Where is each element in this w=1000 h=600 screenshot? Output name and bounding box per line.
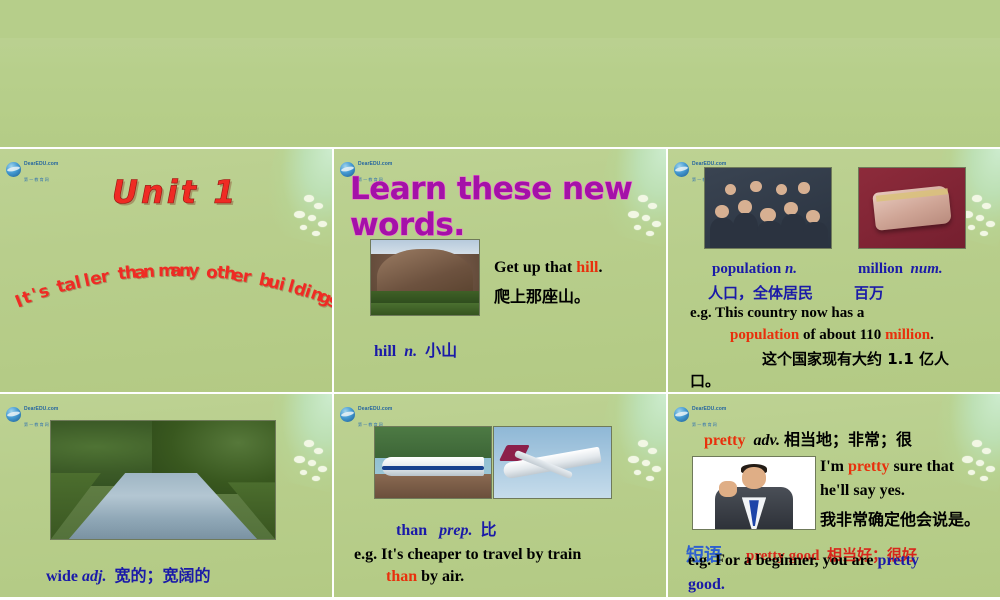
keyword-hill: hill (576, 259, 598, 276)
slide3-vocab-2: million num. (858, 261, 943, 278)
globe-icon (6, 162, 21, 177)
river-photo (50, 420, 276, 540)
slide3-meaning-2: 百万 (854, 282, 884, 303)
slide3-example-cn-line2: 口。 (690, 370, 720, 391)
slide-thumbnail-3[interactable]: DearEDU.com 第一教育网 (668, 149, 1000, 392)
globe-icon (674, 162, 689, 177)
logo-text-line1: DearEDU.com (24, 161, 58, 167)
slide6-overlapping-textboxes: 短语 pretty good 相当好；很好 e.g. For a beginne… (668, 540, 1000, 597)
slide6-vocab-entry: pretty adv. 相当地；非常；很 (704, 426, 912, 450)
slide5-example-line1: e.g. It's cheaper to travel by train (354, 546, 581, 564)
presentation-handout-page: DearEDU.com 第一教育网 Unit 1 It's taller tha… (0, 0, 1000, 600)
slide6-sentence-line2: he'll say yes. (820, 482, 905, 500)
corner-decoration-icon (604, 394, 666, 514)
header-blank-band (0, 0, 1000, 147)
logo-text-line1: DearEDU.com (358, 406, 392, 412)
slide-thumbnail-5[interactable]: DearEDU.com 第一教育网 than prep. 比 e.g. It's… (334, 394, 666, 597)
logo-text-line2: 第一教育网 (24, 177, 50, 182)
corner-decoration-icon (938, 394, 1000, 514)
logo-watermark: DearEDU.com 第一教育网 (6, 153, 58, 185)
slide5-example-line2: than by air. (386, 568, 464, 586)
slide-thumbnail-4[interactable]: DearEDU.com 第一教育网 wide adj. 宽的；宽阔的 (0, 394, 332, 597)
logo-text-line2: 第一教育网 (24, 422, 50, 427)
hill-photo (370, 239, 480, 316)
slide3-vocab-1: population n. (712, 261, 797, 278)
slide6-example-line1: e.g. For a beginner, you are pretty (688, 552, 919, 570)
keyword-population: population (730, 327, 799, 343)
corner-decoration-icon (270, 394, 332, 514)
slide6-sentence-cn: 我非常确定他会说是。 (820, 506, 980, 530)
unit-title: Unit 1 (112, 173, 238, 211)
slide2-vocab-entry: hill n. 小山 (374, 337, 457, 361)
slide4-vocab-entry: wide adj. 宽的；宽阔的 (46, 562, 210, 586)
slide-thumbnail-6[interactable]: DearEDU.com 第一教育网 pretty adv. 相当地；非常；很 I… (668, 394, 1000, 597)
slide3-example-line2: population of about 110 million. (730, 327, 934, 344)
crowd-photo (704, 167, 832, 249)
slide2-title: Learn these new words. (350, 171, 666, 243)
slide6-sentence-line1: I'm pretty sure that (820, 458, 954, 476)
slide6-example-line2: good. (688, 576, 725, 594)
slide5-vocab-entry: than prep. 比 (396, 516, 496, 540)
logo-text-line1: DearEDU.com (692, 406, 726, 412)
slide3-example-cn-line1: 这个国家现有大约 1.1 亿人 (762, 348, 949, 369)
unit-subtitle-glyph: y (188, 261, 200, 281)
globe-icon (674, 407, 689, 422)
slide-grid: DearEDU.com 第一教育网 Unit 1 It's taller tha… (0, 149, 1000, 600)
logo-text-line1: DearEDU.com (358, 161, 392, 167)
ok-gesture-man-photo (692, 456, 816, 530)
keyword-pretty: pretty (704, 432, 745, 449)
slide-thumbnail-2[interactable]: DearEDU.com 第一教育网 Learn these new words.… (334, 149, 666, 392)
slide2-sentence-en: Get up that hill. (494, 259, 602, 277)
keyword-pretty-inline: pretty (848, 458, 889, 475)
slide3-example-line1: e.g. This country now has a (690, 305, 864, 322)
unit-subtitle: It's taller than many other buildings (18, 215, 332, 275)
logo-text-line1: DearEDU.com (24, 406, 58, 412)
slide-thumbnail-1[interactable]: DearEDU.com 第一教育网 Unit 1 It's taller tha… (0, 149, 332, 392)
globe-icon (340, 407, 355, 422)
keyword-million: million (885, 327, 930, 343)
keyword-than: than (386, 568, 417, 585)
high-speed-train-photo (374, 426, 492, 499)
globe-icon (6, 407, 21, 422)
keyword-pretty-example: pretty (877, 552, 918, 569)
slide3-meaning-1: 人口，全体居民 (708, 282, 813, 303)
qatar-airplane-photo (493, 426, 612, 499)
slide2-sentence-cn: 爬上那座山。 (494, 283, 590, 307)
banknotes-photo (858, 167, 966, 249)
